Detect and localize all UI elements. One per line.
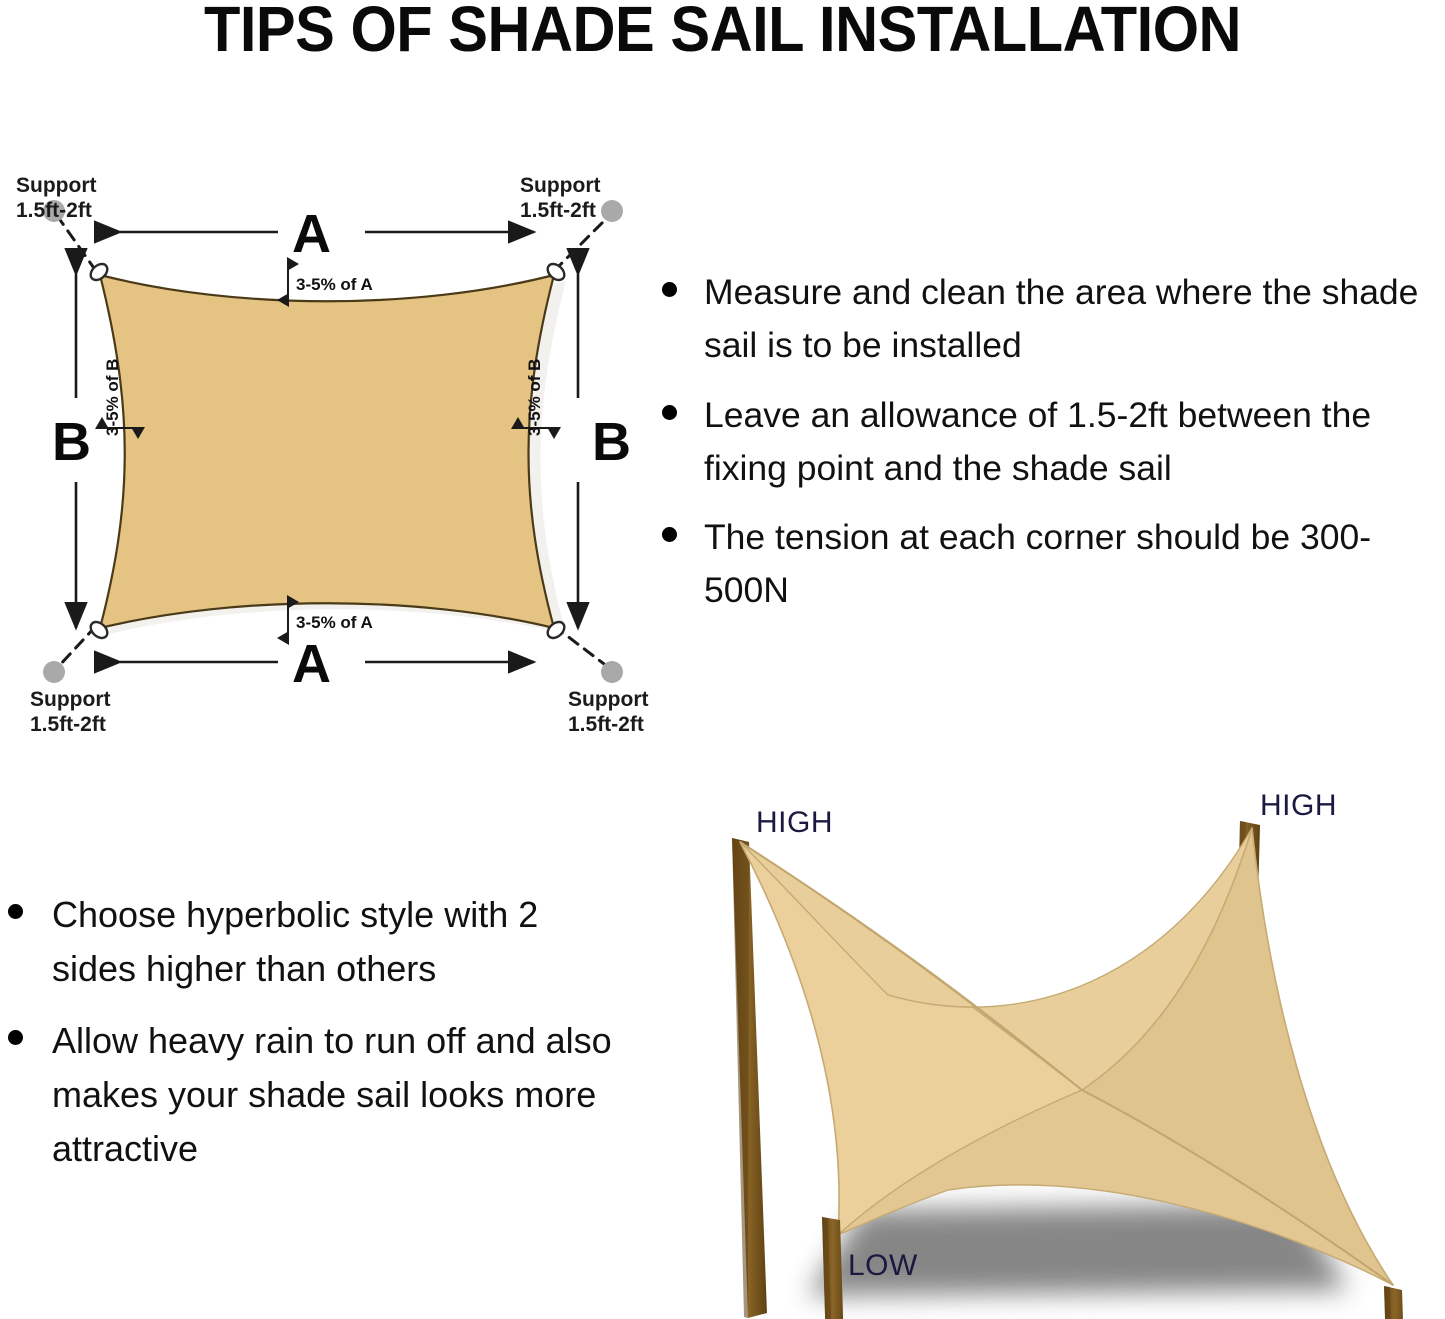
curve-a-top-label: 3-5% of A <box>296 275 373 294</box>
list-item: Choose hyperbolic style with 2 sides hig… <box>0 888 630 996</box>
support-dot-bottom-left <box>43 661 65 683</box>
support-dot-bottom-right <box>601 661 623 683</box>
list-item: Leave an allowance of 1.5-2ft between th… <box>648 389 1445 496</box>
tip-text: The tension at each corner should be 300… <box>704 517 1371 610</box>
hyperbolic-sail-illustration: HIGH HIGH LOW LOW <box>648 780 1445 1319</box>
curve-b-left-label: 3-5% of B <box>103 359 122 436</box>
dimension-b-left-label: B <box>52 412 91 472</box>
tether-top-right <box>554 217 608 271</box>
bullet-dot-icon <box>8 904 23 919</box>
support-dot-top-right <box>601 200 623 222</box>
support-label-br-line2: 1.5ft-2ft <box>568 713 644 736</box>
style-tips-list: Choose hyperbolic style with 2 sides hig… <box>0 888 630 1194</box>
curve-a-bottom-label: 3-5% of A <box>296 613 373 632</box>
dimension-a-top-label: A <box>292 204 331 264</box>
support-label-bl-line2: 1.5ft-2ft <box>30 713 106 736</box>
style-tip-text: Allow heavy rain to run off and also mak… <box>52 1020 612 1169</box>
support-label-bl-line1: Support <box>30 688 110 711</box>
dimension-b-right-label: B <box>592 412 631 472</box>
support-label-tl-line1: Support <box>16 174 96 197</box>
support-label-tr-line2: 1.5ft-2ft <box>520 199 596 222</box>
support-label-tr-line1: Support <box>520 174 600 197</box>
label-high-left: HIGH <box>756 806 833 839</box>
bullet-dot-icon <box>8 1030 23 1045</box>
list-item: Allow heavy rain to run off and also mak… <box>0 1014 630 1176</box>
tether-top-left <box>58 217 96 271</box>
shade-sail-fabric <box>100 275 554 628</box>
page-title: TIPS OF SHADE SAIL INSTALLATION <box>51 0 1395 66</box>
post-right-low <box>1384 1286 1408 1319</box>
tip-text: Measure and clean the area where the sha… <box>704 272 1418 365</box>
support-label-br-line1: Support <box>568 688 648 711</box>
bullet-dot-icon <box>662 282 677 297</box>
style-tip-text: Choose hyperbolic style with 2 sides hig… <box>52 894 538 989</box>
post-left-high <box>732 838 767 1318</box>
tether-bottom-left <box>58 626 96 667</box>
support-label-tl-line2: 1.5ft-2ft <box>16 199 92 222</box>
list-item: The tension at each corner should be 300… <box>648 511 1445 618</box>
dimension-a-bottom-label: A <box>292 634 331 694</box>
bullet-dot-icon <box>662 405 677 420</box>
bullet-dot-icon <box>662 527 677 542</box>
rectangular-sail-diagram: Support 1.5ft-2ft Support 1.5ft-2ft Supp… <box>0 160 660 740</box>
installation-tips-list: Measure and clean the area where the sha… <box>648 266 1445 634</box>
curve-b-right-label: 3-5% of B <box>525 359 544 436</box>
tip-text: Leave an allowance of 1.5-2ft between th… <box>704 395 1371 488</box>
curve-a-top-callout: 3-5% of A <box>288 264 373 300</box>
label-high-right: HIGH <box>1260 789 1337 822</box>
list-item: Measure and clean the area where the sha… <box>648 266 1445 373</box>
label-low-left: LOW <box>848 1249 918 1282</box>
